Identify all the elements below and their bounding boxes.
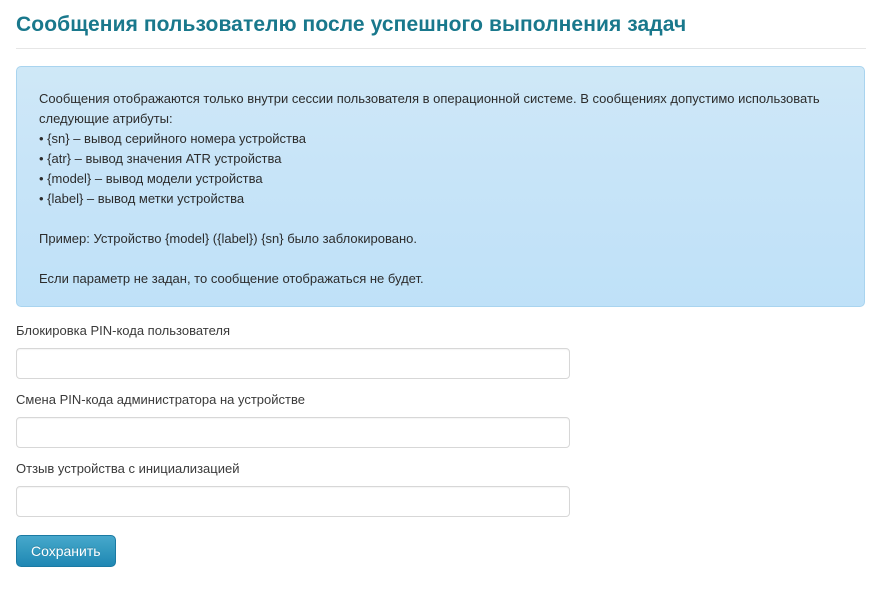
form-actions: Сохранить [16, 535, 716, 567]
field-device-revoke: Отзыв устройства с инициализацией [16, 460, 716, 517]
info-attribute-item: {model} – вывод модели устройства [39, 169, 840, 189]
settings-form: Блокировка PIN-кода пользователя Смена P… [16, 322, 716, 567]
field-label-admin-pin-change: Смена PIN-кода администратора на устройс… [16, 391, 716, 409]
info-attribute-item: {atr} – вывод значения ATR устройства [39, 149, 840, 169]
info-attribute-item: {label} – вывод метки устройства [39, 189, 840, 209]
field-admin-pin-change: Смена PIN-кода администратора на устройс… [16, 391, 716, 448]
input-admin-pin-change[interactable] [16, 417, 570, 448]
input-device-revoke[interactable] [16, 486, 570, 517]
info-spacer [39, 209, 840, 229]
page-title: Сообщения пользователю после успешного в… [0, 0, 884, 38]
title-divider [16, 48, 866, 49]
field-label-device-revoke: Отзыв устройства с инициализацией [16, 460, 716, 478]
info-note-text: Если параметр не задан, то сообщение ото… [39, 269, 840, 289]
info-example-text: Пример: Устройство {model} ({label}) {sn… [39, 229, 840, 249]
info-intro-text: Сообщения отображаются только внутри сес… [39, 89, 840, 129]
input-user-pin-lock[interactable] [16, 348, 570, 379]
save-button[interactable]: Сохранить [16, 535, 116, 567]
info-spacer [39, 249, 840, 269]
info-panel: Сообщения отображаются только внутри сес… [16, 66, 865, 307]
field-user-pin-lock: Блокировка PIN-кода пользователя [16, 322, 716, 379]
info-attribute-item: {sn} – вывод серийного номера устройства [39, 129, 840, 149]
page-root: Сообщения пользователю после успешного в… [0, 0, 884, 595]
field-label-user-pin-lock: Блокировка PIN-кода пользователя [16, 322, 716, 340]
info-attribute-list: {sn} – вывод серийного номера устройства… [39, 129, 840, 209]
